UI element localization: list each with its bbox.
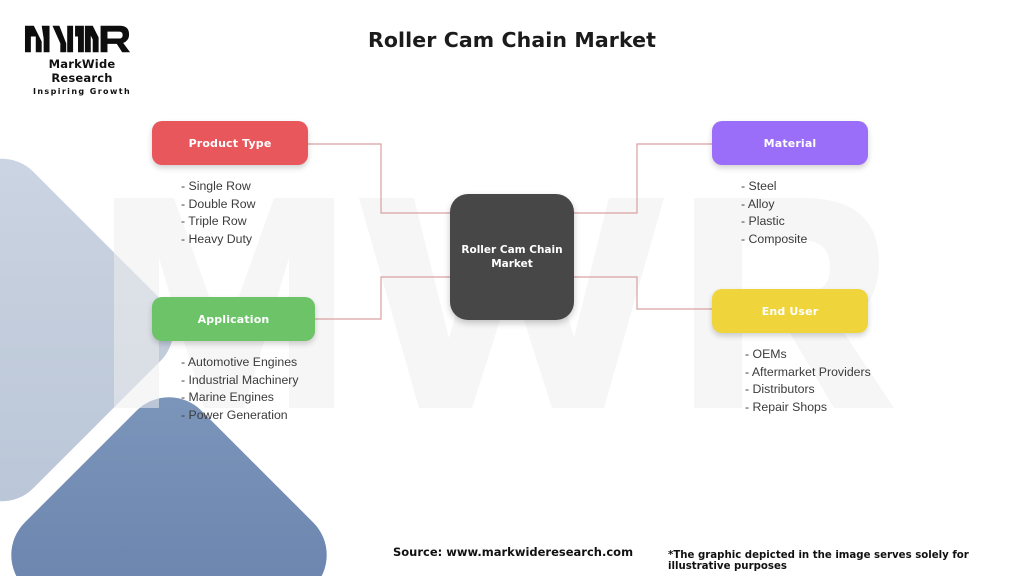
list-item: - Aftermarket Providers bbox=[745, 364, 868, 382]
category-header-product-type[interactable]: Product Type bbox=[152, 121, 308, 165]
category-label-end-user: End User bbox=[762, 305, 819, 318]
list-item: - Automotive Engines bbox=[181, 354, 315, 372]
category-material: Material - Steel - Alloy - Plastic - Com… bbox=[712, 121, 868, 248]
category-application: Application - Automotive Engines - Indus… bbox=[152, 297, 315, 424]
footer-source[interactable]: Source: www.markwideresearch.com bbox=[393, 545, 633, 559]
list-item: - Alloy bbox=[741, 196, 868, 214]
list-item: - Marine Engines bbox=[181, 389, 315, 407]
center-node: Roller Cam Chain Market bbox=[450, 194, 574, 320]
category-label-application: Application bbox=[198, 313, 270, 326]
list-item: - Distributors bbox=[745, 381, 868, 399]
list-item: - Plastic bbox=[741, 213, 868, 231]
category-items-material: - Steel - Alloy - Plastic - Composite bbox=[741, 178, 868, 248]
category-header-material[interactable]: Material bbox=[712, 121, 868, 165]
category-header-end-user[interactable]: End User bbox=[712, 289, 868, 333]
list-item: - Triple Row bbox=[181, 213, 308, 231]
category-items-application: - Automotive Engines - Industrial Machin… bbox=[181, 354, 315, 424]
list-item: - Power Generation bbox=[181, 407, 315, 425]
category-items-end-user: - OEMs - Aftermarket Providers - Distrib… bbox=[745, 346, 868, 416]
category-header-application[interactable]: Application bbox=[152, 297, 315, 341]
connector-product-type bbox=[308, 144, 452, 213]
center-node-label: Roller Cam Chain Market bbox=[460, 243, 564, 271]
connector-application bbox=[315, 277, 452, 319]
list-item: - Industrial Machinery bbox=[181, 372, 315, 390]
category-end-user: End User - OEMs - Aftermarket Providers … bbox=[712, 289, 868, 416]
list-item: - Heavy Duty bbox=[181, 231, 308, 249]
category-product-type: Product Type - Single Row - Double Row -… bbox=[152, 121, 308, 248]
list-item: - Repair Shops bbox=[745, 399, 868, 417]
infographic-canvas: MarkWide Research Inspiring Growth Rolle… bbox=[0, 0, 1024, 576]
list-item: - Single Row bbox=[181, 178, 308, 196]
footer-disclaimer: *The graphic depicted in the image serve… bbox=[668, 550, 1024, 572]
connector-material bbox=[572, 144, 712, 213]
list-item: - Steel bbox=[741, 178, 868, 196]
connector-end-user bbox=[572, 277, 712, 309]
category-label-product-type: Product Type bbox=[189, 137, 272, 150]
center-node-label-line2: Market bbox=[460, 257, 564, 271]
center-node-label-line1: Roller Cam Chain bbox=[460, 243, 564, 257]
list-item: - Double Row bbox=[181, 196, 308, 214]
list-item: - Composite bbox=[741, 231, 868, 249]
list-item: - OEMs bbox=[745, 346, 868, 364]
category-items-product-type: - Single Row - Double Row - Triple Row -… bbox=[181, 178, 308, 248]
category-label-material: Material bbox=[764, 137, 817, 150]
